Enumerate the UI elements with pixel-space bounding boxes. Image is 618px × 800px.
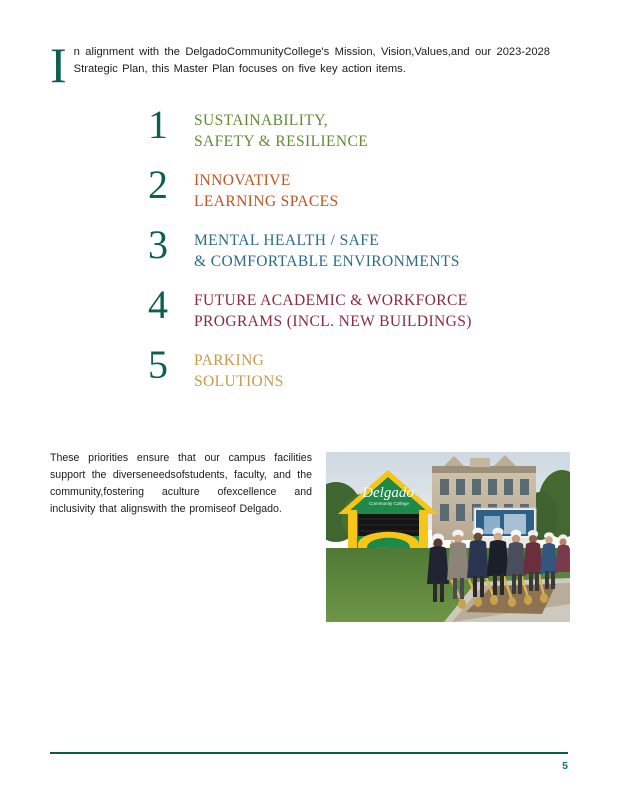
action-item-number: 5: [148, 345, 194, 385]
action-item-label: SUSTAINABILITY, SAFETY & RESILIENCE: [194, 110, 368, 152]
drop-cap-letter: I: [50, 44, 67, 86]
groundbreaking-ceremony-photo: Delgado Community College: [326, 452, 570, 622]
sign-wordmark-text: Delgado: [361, 485, 414, 501]
action-items-list: 1 SUSTAINABILITY, SAFETY & RESILIENCE 2 …: [148, 110, 568, 410]
intro-paragraph-block: I n alignment with the DelgadoCommunityC…: [50, 44, 550, 86]
sign-subtext: Community College: [369, 501, 410, 506]
intro-paragraph-text: n alignment with the DelgadoCommunityCol…: [50, 44, 550, 78]
action-item-3: 3 MENTAL HEALTH / SAFE & COMFORTABLE ENV…: [148, 230, 568, 272]
action-item-number: 3: [148, 225, 194, 265]
footer-divider-rule: [50, 752, 568, 754]
action-item-label: INNOVATIVE LEARNING SPACES: [194, 170, 339, 212]
action-item-label: PARKING SOLUTIONS: [194, 350, 284, 392]
action-item-number: 1: [148, 105, 194, 145]
action-item-1: 1 SUSTAINABILITY, SAFETY & RESILIENCE: [148, 110, 568, 152]
action-item-label: FUTURE ACADEMIC & WORKFORCE PROGRAMS (IN…: [194, 290, 472, 332]
action-item-2: 2 INNOVATIVE LEARNING SPACES: [148, 170, 568, 212]
closing-paragraph-text: These priorities ensure that our campus …: [50, 450, 312, 518]
action-item-5: 5 PARKING SOLUTIONS: [148, 350, 568, 392]
action-item-label: MENTAL HEALTH / SAFE & COMFORTABLE ENVIR…: [194, 230, 460, 272]
action-item-4: 4 FUTURE ACADEMIC & WORKFORCE PROGRAMS (…: [148, 290, 568, 332]
page-number: 5: [562, 760, 568, 772]
action-item-number: 2: [148, 165, 194, 205]
action-item-number: 4: [148, 285, 194, 325]
